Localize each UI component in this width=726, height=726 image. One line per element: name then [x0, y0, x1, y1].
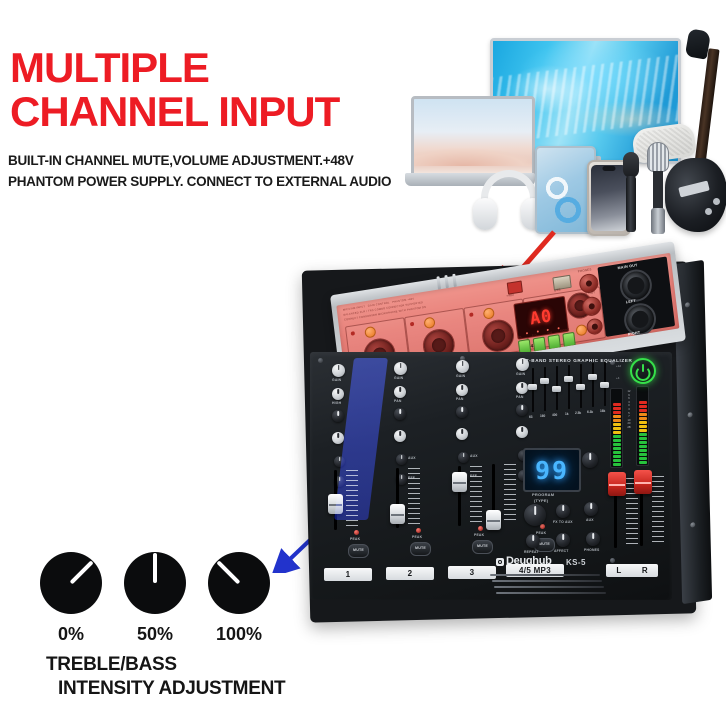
channel-fader-ch3[interactable] — [452, 472, 467, 492]
mid-knob-ch3[interactable] — [456, 406, 468, 418]
vent-line — [494, 586, 604, 588]
product-banner: MULTIPLE CHANNEL INPUT BUILT-IN CHANNEL … — [0, 0, 726, 726]
program-type-label: (TYPE) — [534, 498, 548, 503]
brand-logo-icon — [496, 558, 504, 566]
master-program-knob[interactable] — [524, 504, 546, 526]
phantom-label: +48V — [506, 294, 514, 299]
fx-to-aux-knob[interactable] — [556, 504, 570, 518]
master-lr-label: L R — [606, 564, 658, 577]
brand-name: Deuqhub — [506, 555, 552, 567]
vu-meter-left — [610, 388, 623, 468]
gain-label-ch1: GAIN — [332, 378, 341, 382]
dynamic-mic-body — [626, 176, 636, 232]
affect-knob[interactable] — [556, 533, 570, 547]
eq-slider-63[interactable] — [528, 384, 537, 390]
channel-fader-ch2[interactable] — [390, 504, 405, 524]
aux-label-ch2: AUX — [408, 456, 416, 460]
pan-label-ch3: PAN — [456, 397, 464, 401]
peak-label-ch2: PEAK — [412, 535, 422, 539]
fx-to-aux-label: FX TO AUX — [553, 520, 573, 524]
peak-led-ch2 — [416, 528, 421, 533]
eq-section-title: 7-BAND STEREO GRAPHIC EQUALIZER — [526, 358, 632, 363]
transport-button-prev[interactable] — [533, 337, 547, 353]
guitar-pickup — [678, 181, 710, 198]
fader-scale-ch3 — [470, 466, 482, 526]
pan-label-ch45: PAN — [516, 395, 524, 399]
knob-pointer-50 — [153, 553, 157, 583]
phantom-led — [410, 322, 414, 327]
low-knob-ch45[interactable] — [516, 426, 528, 438]
high-knob-ch45[interactable] — [516, 382, 528, 394]
fader-scale-ch2 — [408, 468, 420, 528]
gain-knob[interactable] — [423, 317, 435, 330]
mid-knob-ch45[interactable] — [516, 404, 528, 416]
tablet-wallpaper — [541, 174, 585, 226]
phantom-led — [351, 331, 355, 336]
high-label-ch1: HIGH — [332, 401, 341, 405]
knob-demo-50 — [124, 552, 186, 614]
dynamic-microphone — [623, 152, 639, 232]
knob-percent-50: 50% — [124, 624, 186, 645]
eq-slider-160[interactable] — [540, 378, 549, 384]
channel-label-2: 2 — [386, 567, 434, 580]
panel-screw — [318, 358, 323, 363]
guitar-body — [665, 158, 726, 232]
power-button[interactable] — [630, 358, 656, 384]
affect-label: AFFECT — [554, 549, 569, 553]
transport-button-mode[interactable] — [562, 332, 576, 348]
vent-line — [490, 574, 600, 576]
gain-label-ch45: GAIN — [516, 372, 525, 376]
eq-slider-1k[interactable] — [564, 376, 573, 382]
peak-label-ch45: PEAK — [536, 531, 546, 535]
headline-line-2: CHANNEL INPUT — [10, 90, 410, 134]
gain-label-ch2: GAIN — [394, 376, 403, 380]
side-screw — [688, 412, 693, 418]
peak-led-ch45 — [540, 524, 545, 529]
mute-button-ch3[interactable]: MUTE — [472, 540, 493, 554]
aux-master-knob[interactable] — [584, 502, 598, 516]
mp3-display-value: A0 — [529, 306, 554, 329]
panel-screw — [610, 558, 615, 563]
gain-knob[interactable] — [364, 326, 376, 339]
effect-display-value: 99 — [535, 456, 569, 485]
peak-label-ch1: PEAK — [350, 537, 360, 541]
eq-slider-16k[interactable] — [600, 382, 609, 388]
master-fader-scale-r — [652, 476, 664, 546]
eq-scale-plus4: +4 — [616, 376, 619, 380]
gain-label-ch3: GAIN — [456, 374, 465, 378]
aux-label-ch3: AUX — [470, 454, 478, 458]
knob-demo-0 — [40, 552, 102, 614]
phones-label: PHONES — [584, 548, 600, 552]
subheadline-line-1: BUILT-IN CHANNEL MUTE,VOLUME ADJUSTMENT.… — [8, 150, 408, 171]
dynamic-mic-head — [623, 152, 639, 178]
aux-knob-ch2[interactable] — [396, 454, 407, 465]
aux-master-label: AUX — [586, 518, 594, 522]
vu-meter-right — [636, 386, 649, 466]
repeat-knob[interactable] — [526, 534, 540, 548]
master-label-r: R — [642, 566, 648, 575]
channel-label-1: 1 — [324, 568, 372, 581]
laptop-lid — [411, 96, 535, 180]
xlr-combo-jack[interactable] — [480, 317, 516, 354]
peak-led-ch3 — [478, 526, 483, 531]
guitar-knob — [705, 208, 712, 215]
model-name: KS-5 — [566, 558, 586, 567]
headline-block: MULTIPLE CHANNEL INPUT — [10, 46, 410, 134]
gain-knob[interactable] — [483, 307, 495, 320]
audio-mixer-product: MIC/LINE INPUT GAIN CONTROL PHANTOM +48V… — [286, 258, 706, 630]
peak-led-ch1 — [354, 530, 359, 535]
eq-freq-2k5: 2.5k — [575, 411, 581, 415]
mid-knob-ch2[interactable] — [394, 408, 406, 420]
gain-knob-ch3[interactable] — [456, 360, 469, 373]
knob-pointer-0 — [70, 560, 94, 584]
fader-scale-ch1 — [346, 470, 358, 530]
eq-freq-16k: 16k — [600, 409, 605, 413]
eq-slider-2k5[interactable] — [576, 384, 585, 390]
knob-percent-0: 0% — [40, 624, 102, 645]
fader-scale-ch45 — [504, 464, 516, 524]
knob-percent-100: 100% — [208, 624, 270, 645]
compatible-devices-collage — [395, 22, 725, 252]
main-out-xlr-left[interactable] — [618, 267, 654, 304]
knob-intensity-demo: 0% 50% 100% TREBLE/BASS INTENSITY ADJUST… — [34, 552, 294, 712]
master-fader-right[interactable] — [634, 470, 652, 494]
subheadline-block: BUILT-IN CHANNEL MUTE,VOLUME ADJUSTMENT.… — [8, 150, 408, 192]
effect-program-display: 99 — [523, 448, 581, 492]
low-knob-ch2[interactable] — [394, 430, 406, 442]
eq-freq-1k: 1k — [565, 412, 569, 416]
phones-knob[interactable] — [586, 532, 600, 546]
side-screw — [690, 522, 695, 528]
aux-knob-ch1[interactable] — [334, 456, 345, 467]
low-knob-ch1[interactable] — [332, 432, 344, 444]
eq-slider-400[interactable] — [552, 386, 561, 392]
laptop-wallpaper — [411, 140, 535, 167]
smartphone-screen — [591, 165, 627, 231]
pan-label-ch2: PAN — [394, 399, 402, 403]
master-label-l: L — [616, 566, 621, 575]
repeat-label: REPEAT — [524, 550, 539, 554]
mute-label-ch1: MUTE — [349, 548, 368, 552]
mute-label-ch2: MUTE — [411, 546, 430, 550]
mute-button-ch1[interactable]: MUTE — [348, 544, 369, 558]
aux-knob-ch3[interactable] — [458, 452, 469, 463]
knob-pointer-100 — [216, 560, 240, 584]
channel-fader-ch1[interactable] — [328, 494, 343, 514]
gain-knob-ch1[interactable] — [332, 364, 345, 377]
high-knob-ch1[interactable] — [332, 388, 344, 400]
high-knob-ch2[interactable] — [394, 386, 406, 398]
eq-slider-6k3[interactable] — [588, 374, 597, 380]
knob-demo-100 — [208, 552, 270, 614]
gain-knob-ch2[interactable] — [394, 362, 407, 375]
mid-knob-ch1[interactable] — [332, 410, 344, 422]
transport-label-prev: I<< — [532, 333, 537, 338]
master-fader-left[interactable] — [608, 472, 626, 496]
knob-caption-line-2: INTENSITY ADJUSTMENT — [58, 678, 285, 700]
low-knob-ch3[interactable] — [456, 428, 468, 440]
eq-freq-63: 63 — [529, 415, 533, 419]
phantom-led — [469, 312, 473, 317]
mixer-top-panel: GAIN HIGH PEAK MUTE 1 — [310, 352, 672, 600]
side-screw — [685, 302, 690, 308]
knob-caption-line-1: TREBLE/BASS — [46, 654, 177, 676]
headphone-cup-left — [473, 198, 497, 230]
vent-line — [496, 592, 606, 594]
laptop-screen — [414, 99, 532, 177]
smartphone-notch — [603, 166, 616, 171]
vent-line — [492, 580, 602, 582]
program-label: PROGRAM — [532, 492, 554, 497]
eq-scale-plus12: +12 — [616, 364, 621, 368]
vu-scale-labels: 1296303571020dB — [623, 390, 635, 430]
transport-label-play: PL — [518, 335, 523, 340]
electric-guitar — [663, 30, 726, 235]
transport-label-next: >>I — [547, 330, 552, 335]
channel-label-3: 3 — [448, 566, 496, 579]
effect-select-knob[interactable] — [582, 452, 598, 468]
main-out-block: MAIN OUT LEFT RIGHT — [597, 256, 675, 336]
subheadline-line-2: PHANTOM POWER SUPPLY. CONNECT TO EXTERNA… — [8, 171, 408, 192]
guitar-knob — [713, 198, 720, 205]
mute-label-ch3: MUTE — [473, 544, 492, 548]
transport-button-next[interactable] — [547, 334, 561, 350]
eq-freq-6k3: 6.3k — [587, 410, 593, 414]
mute-button-ch2[interactable]: MUTE — [410, 542, 431, 556]
peak-label-ch3: PEAK — [474, 533, 484, 537]
eq-freq-160: 160 — [540, 414, 545, 418]
eq-freq-400: 400 — [552, 413, 557, 417]
condenser-mic-body — [653, 171, 663, 211]
high-knob-ch3[interactable] — [456, 384, 468, 396]
headline-line-1: MULTIPLE — [10, 46, 410, 90]
channel-fader-ch45[interactable] — [486, 510, 501, 530]
main-out-right-label: RIGHT — [628, 330, 641, 336]
